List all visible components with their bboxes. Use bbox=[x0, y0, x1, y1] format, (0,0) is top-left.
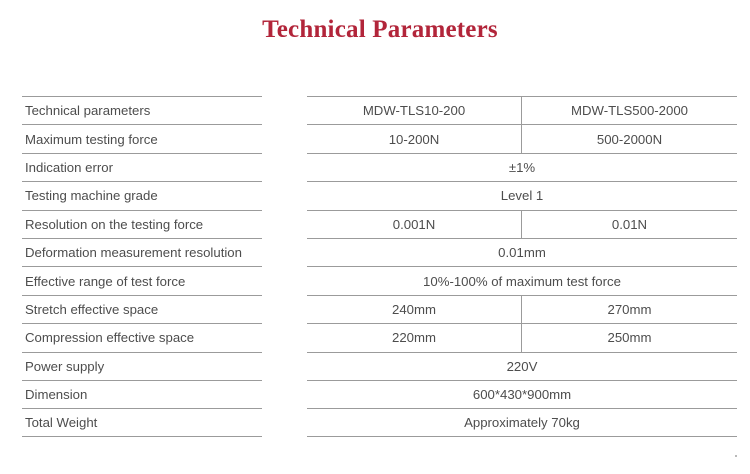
table-row: Effective range of test force10%-100% of… bbox=[0, 266, 750, 294]
row-value-merged: ±1% bbox=[307, 154, 737, 181]
row-label: Power supply bbox=[22, 352, 262, 380]
row-value-model-2: 250mm bbox=[522, 324, 737, 351]
row-value-model-1: 10-200N bbox=[307, 125, 522, 152]
page-title-text: Technical Parameters bbox=[262, 16, 498, 44]
table-row: Total WeightApproximately 70kg bbox=[0, 408, 750, 436]
row-values: 0.01mm bbox=[307, 238, 737, 266]
row-values: 220V bbox=[307, 352, 737, 380]
row-value-merged: 220V bbox=[307, 353, 737, 380]
table-row: Indication error±1% bbox=[0, 153, 750, 181]
row-values: 220mm250mm bbox=[307, 323, 737, 351]
row-value-model-1: 0.001N bbox=[307, 211, 522, 238]
row-value-model-2: MDW-TLS500-2000 bbox=[522, 97, 737, 124]
table-row: Testing machine gradeLevel 1 bbox=[0, 181, 750, 209]
row-value-merged: 10%-100% of maximum test force bbox=[307, 267, 737, 294]
row-label: Total Weight bbox=[22, 408, 262, 436]
row-value-model-1: 240mm bbox=[307, 296, 522, 323]
row-label: Stretch effective space bbox=[22, 295, 262, 323]
row-values: 0.001N0.01N bbox=[307, 210, 737, 238]
row-label: Testing machine grade bbox=[22, 181, 262, 209]
table-row: Dimension600*430*900mm bbox=[0, 380, 750, 408]
row-label: Deformation measurement resolution bbox=[22, 238, 262, 266]
page-title: Technical Parameters bbox=[0, 16, 750, 44]
row-label: Indication error bbox=[22, 153, 262, 181]
row-values: 240mm270mm bbox=[307, 295, 737, 323]
row-values: ±1% bbox=[307, 153, 737, 181]
row-value-model-2: 500-2000N bbox=[522, 125, 737, 152]
table-row: Power supply220V bbox=[0, 352, 750, 380]
row-label: Compression effective space bbox=[22, 323, 262, 351]
row-label: Maximum testing force bbox=[22, 124, 262, 152]
technical-parameters-table: Technical parametersMDW-TLS10-200MDW-TLS… bbox=[0, 96, 750, 438]
row-label: Effective range of test force bbox=[22, 266, 262, 294]
table-row: Technical parametersMDW-TLS10-200MDW-TLS… bbox=[0, 96, 750, 124]
table-row: Stretch effective space240mm270mm bbox=[0, 295, 750, 323]
row-label: Dimension bbox=[22, 380, 262, 408]
row-value-model-1: 220mm bbox=[307, 324, 522, 351]
page-artifact-dot bbox=[735, 455, 737, 457]
row-values: Level 1 bbox=[307, 181, 737, 209]
table-row: Maximum testing force10-200N500-2000N bbox=[0, 124, 750, 152]
row-values: 10%-100% of maximum test force bbox=[307, 266, 737, 294]
row-values: 10-200N500-2000N bbox=[307, 124, 737, 152]
row-value-merged: Level 1 bbox=[307, 182, 737, 209]
row-values: 600*430*900mm bbox=[307, 380, 737, 408]
row-values: Approximately 70kg bbox=[307, 408, 737, 436]
table-row: Compression effective space220mm250mm bbox=[0, 323, 750, 351]
table-row: Resolution on the testing force0.001N0.0… bbox=[0, 210, 750, 238]
row-value-merged: Approximately 70kg bbox=[307, 409, 737, 435]
table-row: Deformation measurement resolution0.01mm bbox=[0, 238, 750, 266]
row-value-model-1: MDW-TLS10-200 bbox=[307, 97, 522, 124]
row-value-merged: 0.01mm bbox=[307, 239, 737, 266]
row-value-model-2: 270mm bbox=[522, 296, 737, 323]
row-label: Technical parameters bbox=[22, 96, 262, 124]
row-value-model-2: 0.01N bbox=[522, 211, 737, 238]
row-values: MDW-TLS10-200MDW-TLS500-2000 bbox=[307, 96, 737, 124]
row-value-merged: 600*430*900mm bbox=[307, 381, 737, 408]
row-label: Resolution on the testing force bbox=[22, 210, 262, 238]
